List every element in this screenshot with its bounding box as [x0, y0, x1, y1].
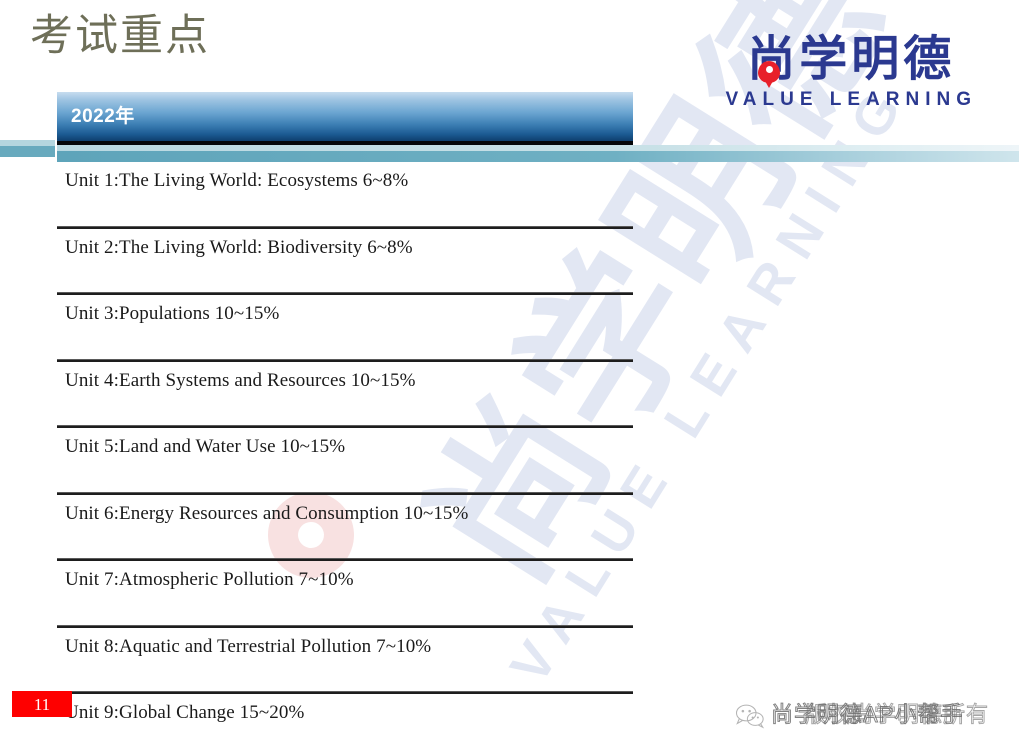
unit-list-item-label: Unit 4:Earth Systems and Resources 10~15…	[65, 370, 416, 392]
unit-list-item-label: Unit 1:The Living World: Ecosystems 6~8%	[65, 170, 408, 192]
brand-hanzi-text: 尚学明德	[747, 36, 955, 84]
unit-list-item-label: Unit 3:Populations 10~15%	[65, 303, 279, 325]
unit-list-item: Unit 1:The Living World: Ecosystems 6~8%	[57, 162, 633, 229]
unit-list-item-label: Unit 6:Energy Resources and Consumption …	[65, 503, 468, 525]
unit-list-item: Unit 2:The Living World: Biodiversity 6~…	[57, 229, 633, 296]
unit-list-item: Unit 7:Atmospheric Pollution 7~10%	[57, 561, 633, 628]
unit-list-item: Unit 9:Global Change 15~20%	[57, 694, 633, 749]
table-header-bar: 2022年	[57, 92, 633, 141]
slide-canvas: 尚学明德 VALUE LEARNING 考试重点 尚学明德 VALUE LEAR…	[0, 0, 1019, 749]
page-number-label: 11	[34, 696, 50, 713]
page-title: 考试重点	[30, 10, 210, 64]
unit-list-item-label: Unit 8:Aquatic and Terrestrial Pollution…	[65, 636, 431, 658]
brand-logo: 尚学明德 VALUE LEARNING	[726, 36, 977, 109]
location-pin-icon	[758, 61, 780, 83]
unit-list-item-label: Unit 5:Land and Water Use 10~15%	[65, 436, 345, 458]
footer-watermark: 尚学明德AP小帮手 版权尚学明德所有	[735, 699, 1001, 733]
unit-list-item-label: Unit 9:Global Change 15~20%	[65, 702, 304, 724]
unit-list-item: Unit 6:Energy Resources and Consumption …	[57, 495, 633, 562]
footer-text-secondary: 版权尚学明德所有	[805, 704, 989, 726]
brand-latin-label: VALUE LEARNING	[726, 90, 977, 109]
unit-list-item: Unit 4:Earth Systems and Resources 10~15…	[57, 362, 633, 429]
page-number-badge: 11	[12, 691, 72, 717]
table-header-label: 2022年	[71, 101, 135, 128]
unit-list-item: Unit 5:Land and Water Use 10~15%	[57, 428, 633, 495]
unit-list-item: Unit 8:Aquatic and Terrestrial Pollution…	[57, 628, 633, 695]
unit-list-item-label: Unit 7:Atmospheric Pollution 7~10%	[65, 569, 354, 591]
footer-text-stack: 尚学明德AP小帮手 版权尚学明德所有	[771, 701, 1001, 731]
unit-list-item: Unit 3:Populations 10~15%	[57, 295, 633, 362]
unit-list: Unit 1:The Living World: Ecosystems 6~8%…	[57, 162, 633, 749]
wechat-icon	[735, 703, 765, 729]
unit-list-item-label: Unit 2:The Living World: Biodiversity 6~…	[65, 237, 413, 259]
accent-band-left-dark	[0, 146, 55, 157]
table-header-rule	[57, 141, 633, 145]
accent-band-right-dark	[57, 151, 1019, 162]
